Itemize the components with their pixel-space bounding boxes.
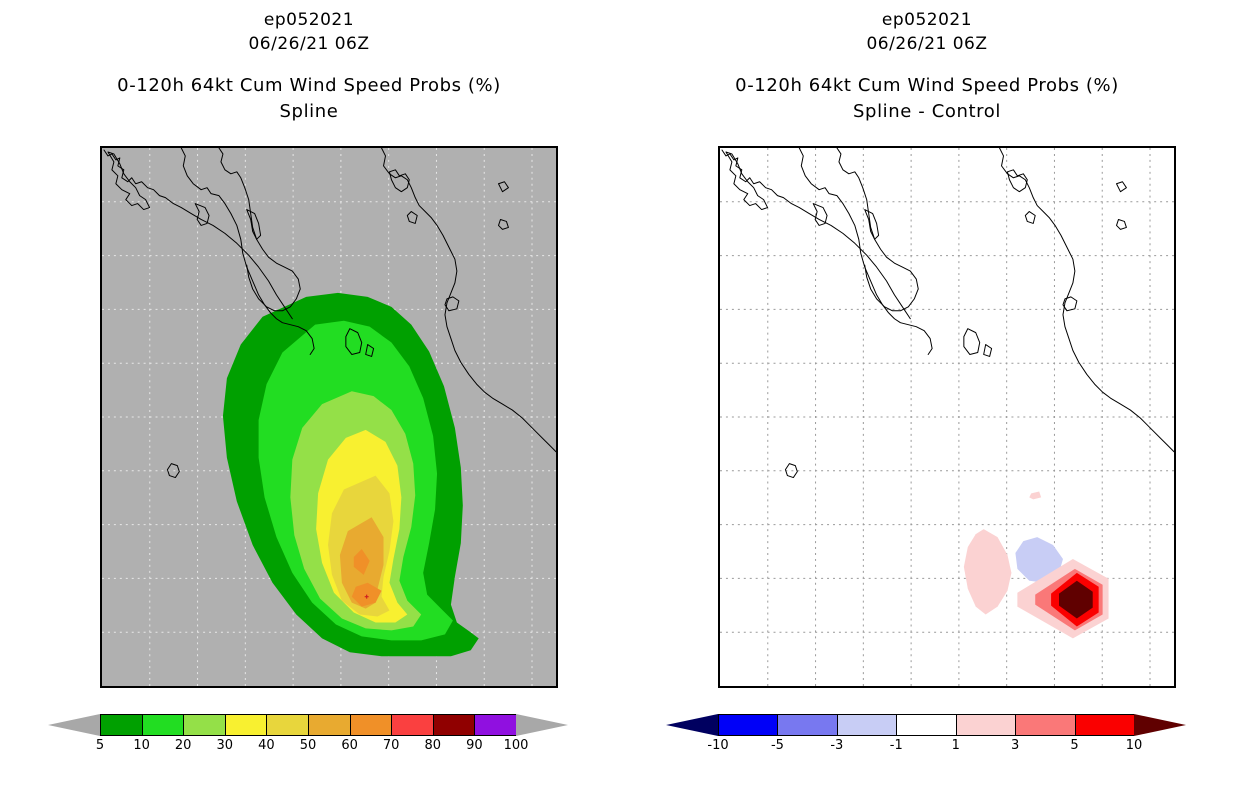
anomaly-trace-positive bbox=[1029, 491, 1041, 499]
panel-right-titles: ep052021 06/26/21 06Z 0-120h 64kt Cum Wi… bbox=[618, 8, 1236, 124]
colorbar-segment bbox=[1015, 714, 1074, 736]
colorbar-strip bbox=[48, 714, 568, 736]
colorbar-segment bbox=[391, 714, 433, 736]
colorbar-tick-label: 80 bbox=[425, 738, 442, 753]
colorbar-tick-label: 20 bbox=[175, 738, 192, 753]
colorbar-segment bbox=[896, 714, 955, 736]
map-plot-spline-control: 25N 24N 23N 22N 21N 20N 19N 18N 17N 16N … bbox=[718, 146, 1176, 688]
colorbar-segment bbox=[474, 714, 516, 736]
colorbar-tick-label: 40 bbox=[258, 738, 275, 753]
map-plot-spline: 25N 24N 23N 22N 21N 20N 19N 18N 17N 16N … bbox=[100, 146, 558, 688]
forecast-datetime: 06/26/21 06Z bbox=[618, 32, 1236, 56]
colorbar-tick-label: 100 bbox=[504, 738, 529, 753]
anomaly-contours bbox=[964, 491, 1109, 638]
colorbar-tick-labels: 5102030405060708090100 bbox=[48, 738, 568, 756]
colorbar-segment bbox=[350, 714, 392, 736]
colorbar-segment bbox=[225, 714, 267, 736]
panel-left-titles: ep052021 06/26/21 06Z 0-120h 64kt Cum Wi… bbox=[0, 8, 618, 124]
colorbar-segment bbox=[956, 714, 1015, 736]
colorbar-segment bbox=[100, 714, 142, 736]
storm-id: ep052021 bbox=[618, 8, 1236, 32]
coastline bbox=[722, 148, 1174, 478]
colorbar-segment bbox=[308, 714, 350, 736]
colorbar-low-cap bbox=[48, 714, 100, 736]
colorbar-segment bbox=[183, 714, 225, 736]
colorbar-probability: 5102030405060708090100 bbox=[48, 714, 568, 758]
panel-title: 0-120h 64kt Cum Wind Speed Probs (%) bbox=[0, 72, 618, 100]
wind-probability-figure: ep052021 06/26/21 06Z 0-120h 64kt Cum Wi… bbox=[0, 0, 1236, 800]
panel-subtitle: Spline - Control bbox=[618, 100, 1236, 124]
colorbar-high-cap bbox=[516, 714, 568, 736]
colorbar-tick-label: 1 bbox=[952, 738, 960, 753]
colorbar-segment bbox=[433, 714, 475, 736]
panel-title: 0-120h 64kt Cum Wind Speed Probs (%) bbox=[618, 72, 1236, 100]
map-svg-spline-control bbox=[720, 148, 1174, 686]
colorbar-tick-label: 30 bbox=[217, 738, 234, 753]
colorbar-segment bbox=[777, 714, 836, 736]
colorbar-tick-label: 50 bbox=[300, 738, 317, 753]
colorbar-tick-label: 60 bbox=[341, 738, 358, 753]
colorbar-segment bbox=[142, 714, 184, 736]
colorbar-segment bbox=[837, 714, 896, 736]
colorbar-tick-label: 10 bbox=[1126, 738, 1143, 753]
anomaly-weak-positive-blob bbox=[964, 529, 1012, 614]
panel-subtitle: Spline bbox=[0, 100, 618, 124]
storm-id: ep052021 bbox=[0, 8, 618, 32]
colorbar-tick-label: 70 bbox=[383, 738, 400, 753]
colorbar-tick-labels: -10-5-3-113510 bbox=[666, 738, 1186, 756]
colorbar-tick-label: 3 bbox=[1011, 738, 1019, 753]
colorbar-segment bbox=[718, 714, 777, 736]
colorbar-tick-label: 10 bbox=[133, 738, 150, 753]
colorbar-low-cap bbox=[666, 714, 718, 736]
colorbar-tick-label: 5 bbox=[1070, 738, 1078, 753]
forecast-datetime: 06/26/21 06Z bbox=[0, 32, 618, 56]
colorbar-high-cap bbox=[1134, 714, 1186, 736]
colorbar-tick-label: -5 bbox=[771, 738, 784, 753]
colorbar-tick-label: 90 bbox=[466, 738, 483, 753]
panel-spline: ep052021 06/26/21 06Z 0-120h 64kt Cum Wi… bbox=[0, 0, 618, 800]
colorbar-tick-label: 5 bbox=[96, 738, 104, 753]
colorbar-segment bbox=[1075, 714, 1134, 736]
probability-contours bbox=[223, 293, 479, 656]
colorbar-tick-label: -1 bbox=[890, 738, 903, 753]
colorbar-segment bbox=[266, 714, 308, 736]
colorbar-tick-label: -10 bbox=[707, 738, 728, 753]
map-svg-spline bbox=[102, 148, 556, 686]
panel-spline-control: ep052021 06/26/21 06Z 0-120h 64kt Cum Wi… bbox=[618, 0, 1236, 800]
colorbar-tick-label: -3 bbox=[830, 738, 843, 753]
colorbar-anomaly: -10-5-3-113510 bbox=[666, 714, 1186, 758]
colorbar-strip bbox=[666, 714, 1186, 736]
